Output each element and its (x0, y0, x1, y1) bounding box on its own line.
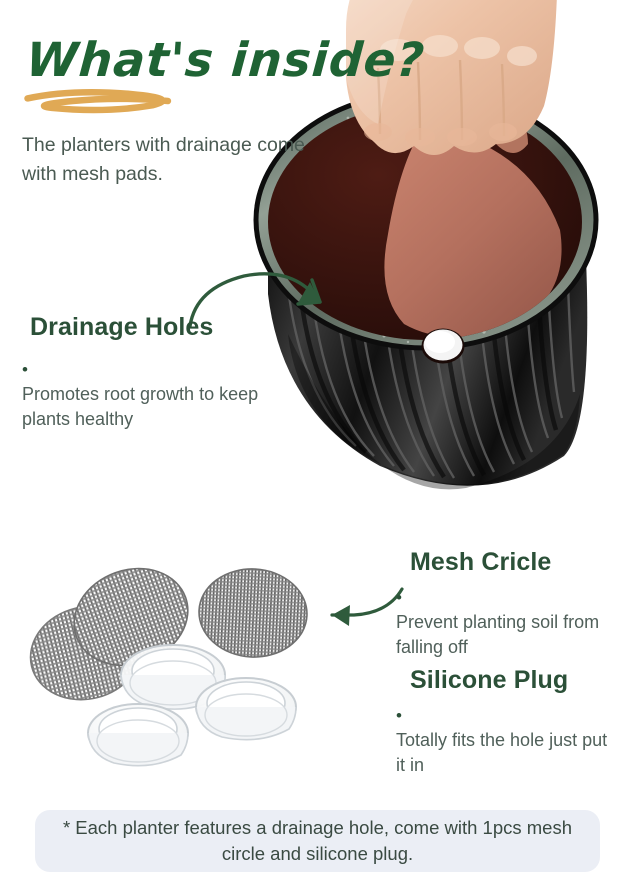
arrow-to-mesh-circles (316, 583, 406, 633)
heading-drainage-holes: Drainage Holes (30, 312, 213, 342)
bullet-drainage-holes: •Promotes root growth to keep plants hea… (22, 357, 272, 432)
drainage-hole (422, 329, 465, 364)
heading-silicone-plug: Silicone Plug (410, 665, 568, 695)
bullet-text: Totally fits the hole just put it in (396, 728, 611, 778)
silicone-plug (196, 678, 296, 740)
bullet-marker: • (22, 357, 34, 382)
page-title: What's inside? (24, 32, 358, 94)
bullet-marker: • (396, 585, 408, 610)
bullet-mesh-circle: •Prevent planting soil from falling off (396, 585, 611, 660)
mesh-circle (197, 566, 309, 660)
infographic-page: What's inside? The planters with drainag… (0, 0, 627, 879)
silicone-plug (88, 704, 188, 766)
accessories-photo (18, 535, 328, 775)
bullet-silicone-plug: •Totally fits the hole just put it in (396, 703, 611, 778)
bullet-text: Promotes root growth to keep plants heal… (22, 382, 272, 432)
page-subtitle: The planters with drainage come with mes… (22, 131, 312, 189)
bullet-text: Prevent planting soil from falling off (396, 610, 611, 660)
footer-note-text: * Each planter features a drainage hole,… (35, 810, 600, 872)
bullet-marker: • (396, 703, 408, 728)
heading-mesh-circle: Mesh Cricle (410, 547, 551, 577)
